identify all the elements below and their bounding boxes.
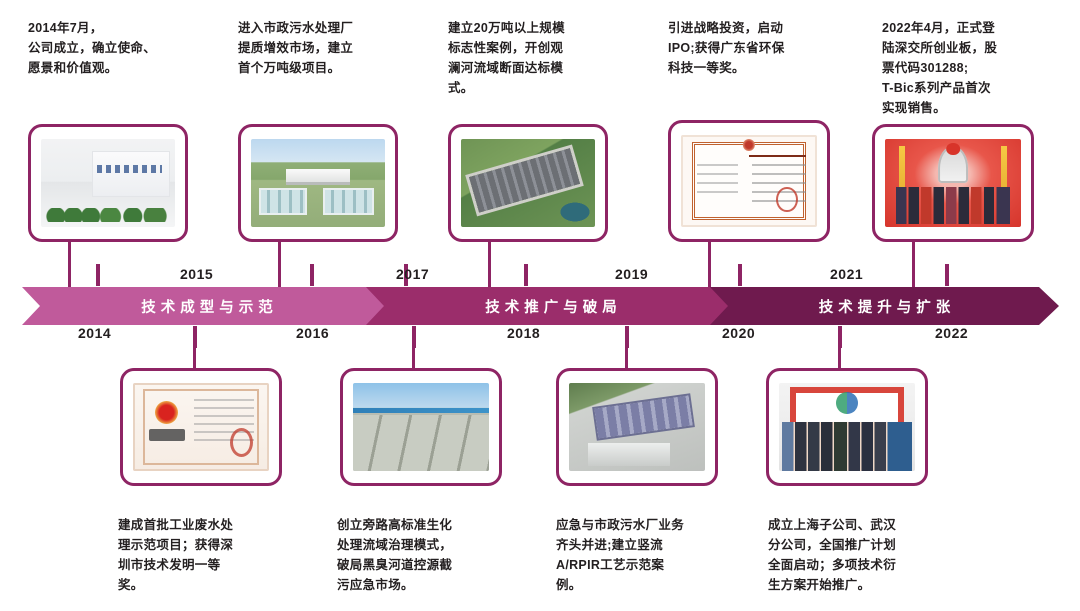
milestone-note-2020: 引进战略投资，启动 IPO;获得广东省环保 科技一等奖。 [668,18,863,78]
connector-2021 [838,348,841,370]
year-label-2021: 2021 [830,266,863,282]
vertical-flow-facility-photo [569,383,705,471]
milestone-image-card-2019[interactable] [556,368,718,486]
large-scale-plant-aerial-photo [461,139,595,227]
timeline-phase-2[interactable]: 技术推广与破局 [366,287,736,325]
timeline-phase-1[interactable]: 技术成型与示范 [22,287,392,325]
milestone-note-2018: 建立20万吨以上规模 标志性案例，开创观 澜河流域断面达标模 式。 [448,18,643,98]
connector-2014 [68,242,71,288]
connector-2018 [488,242,491,288]
tick-2015-end [310,264,314,286]
tick-2015 [96,264,100,286]
subsidiary-group-photo [779,383,915,471]
year-label-2020: 2020 [722,325,755,341]
timeline-infographic: 2014年7月， 公司成立，确立使命、 愿景和价值观。 进入市政污水处理厂 提质… [0,0,1080,611]
timeline-phase-3[interactable]: 技术提升与扩张 [710,287,1059,325]
connector-2015 [193,348,196,370]
connector-2016 [278,242,281,288]
milestone-image-card-2018[interactable] [448,124,608,242]
phase-2-label: 技术推广与破局 [480,296,622,317]
year-label-2015: 2015 [180,266,213,282]
year-label-2014: 2014 [78,325,111,341]
tick-2018-end [625,326,629,348]
milestone-note-2016: 进入市政污水处理厂 提质增效市场，建立 首个万吨级项目。 [238,18,433,78]
phase-1-label: 技术成型与示范 [136,296,278,317]
tick-2018-start [412,326,416,348]
milestone-image-card-2022[interactable] [872,124,1034,242]
year-label-2019: 2019 [615,266,648,282]
year-label-2017: 2017 [396,266,429,282]
phase-3-label: 技术提升与扩张 [814,296,956,317]
milestone-image-card-2017[interactable] [340,368,502,486]
milestone-note-2022: 2022年4月，正式登 陆深交所创业板，股 票代码301288; T-Bic系列… [882,18,1078,118]
year-label-2022: 2022 [935,325,968,341]
milestone-image-card-2020[interactable] [668,120,830,242]
connector-2019 [625,348,628,370]
timeline-bar: 技术成型与示范 技术推广与破局 技术提升与扩张 [22,287,1059,325]
milestone-note-2014: 2014年7月， 公司成立，确立使命、 愿景和价值观。 [28,18,218,78]
ipo-listing-ceremony-photo [885,139,1021,227]
wastewater-plant-aerial-photo [251,139,385,227]
tick-2021 [945,264,949,286]
tick-2022-start [838,326,842,348]
milestone-image-card-2016[interactable] [238,124,398,242]
milestone-note-2017: 创立旁路高标准生化 处理流域治理模式， 破局黑臭河道控源截 污应急市场。 [337,515,532,595]
invention-award-certificate-photo [133,383,269,471]
year-label-2016: 2016 [296,325,329,341]
milestone-image-card-2014[interactable] [28,124,188,242]
treatment-basins-photo [353,383,489,471]
milestone-note-2021: 成立上海子公司、武汉 分公司，全国推广计划 全面启动；多项技术衍 生方案开始推广… [768,515,973,595]
milestone-image-card-2021[interactable] [766,368,928,486]
tick-2017-end [524,264,528,286]
milestone-note-2015: 建成首批工业废水处 理示范项目；获得深 圳市技术发明一等 奖。 [118,515,308,595]
milestone-note-2019: 应急与市政污水厂业务 齐头并进;建立竖流 A/RPIR工艺示范案 例。 [556,515,751,595]
tick-2016-start [193,326,197,348]
tick-2019 [738,264,742,286]
connector-2017 [412,348,415,370]
award-certificate-photo [681,135,817,227]
office-lobby-photo [41,139,175,227]
connector-2022 [912,242,915,288]
milestone-image-card-2015[interactable] [120,368,282,486]
connector-2020 [708,242,711,288]
year-label-2018: 2018 [507,325,540,341]
